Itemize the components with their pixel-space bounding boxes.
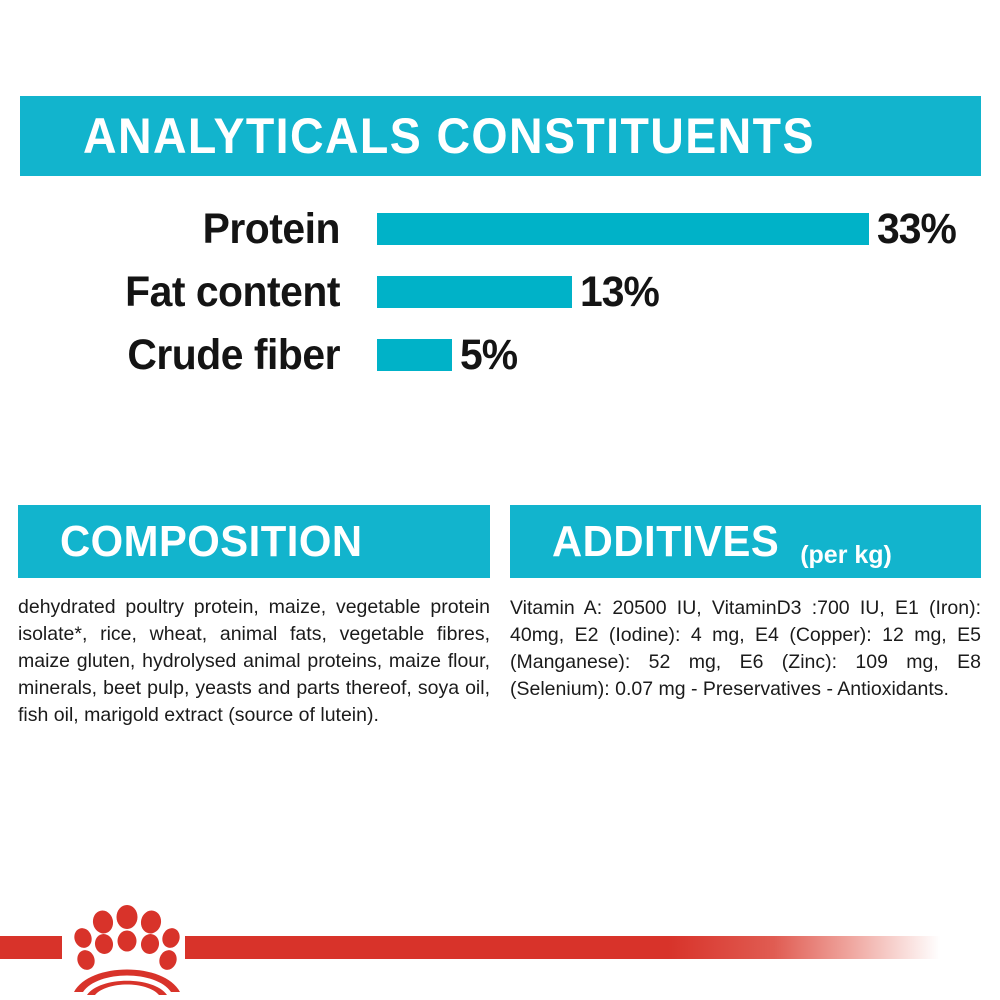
chart-bar-wrap-crude-fiber: 5% [377, 334, 520, 377]
composition-panel: COMPOSITION dehydrated poultry protein, … [18, 505, 490, 729]
additives-header: ADDITIVES (per kg) [510, 505, 981, 578]
analyticals-constituents-title: ANALYTICALS CONSTITUENTS [83, 111, 815, 161]
chart-bar-wrap-protein: 33% [377, 208, 960, 251]
constituents-bar-chart: Protein 33% Fat content 13% Crude fiber … [0, 200, 1000, 390]
brand-footer [0, 900, 1000, 1000]
chart-row-fat-content: Fat content 13% [0, 268, 1000, 316]
chart-bar-protein [377, 213, 869, 245]
additives-subtitle: (per kg) [800, 543, 892, 582]
chart-bar-crude-fiber [377, 339, 452, 371]
composition-header: COMPOSITION [18, 505, 490, 578]
footer-rule-right [185, 936, 940, 959]
additives-title: ADDITIVES [552, 520, 779, 564]
chart-value-crude-fiber: 5% [460, 334, 517, 377]
chart-bar-fat-content [377, 276, 572, 308]
analyticals-constituents-header: ANALYTICALS CONSTITUENTS [20, 96, 981, 176]
additives-body-text: Vitamin A: 20500 IU, VitaminD3 :700 IU, … [510, 595, 981, 703]
chart-row-protein: Protein 33% [0, 205, 1000, 253]
chart-value-fat-content: 13% [580, 271, 659, 314]
additives-panel: ADDITIVES (per kg) Vitamin A: 20500 IU, … [510, 505, 981, 703]
royal-canin-crown-icon [68, 900, 186, 995]
chart-row-crude-fiber: Crude fiber 5% [0, 331, 1000, 379]
chart-label-protein: Protein [17, 208, 340, 251]
chart-label-fat-content: Fat content [17, 271, 340, 314]
composition-body-text: dehydrated poultry protein, maize, veget… [18, 594, 490, 729]
chart-value-protein: 33% [877, 208, 956, 251]
chart-label-crude-fiber: Crude fiber [17, 334, 340, 377]
composition-title: COMPOSITION [60, 520, 362, 564]
footer-rule-left [0, 936, 62, 959]
chart-bar-wrap-fat-content: 13% [377, 271, 663, 314]
